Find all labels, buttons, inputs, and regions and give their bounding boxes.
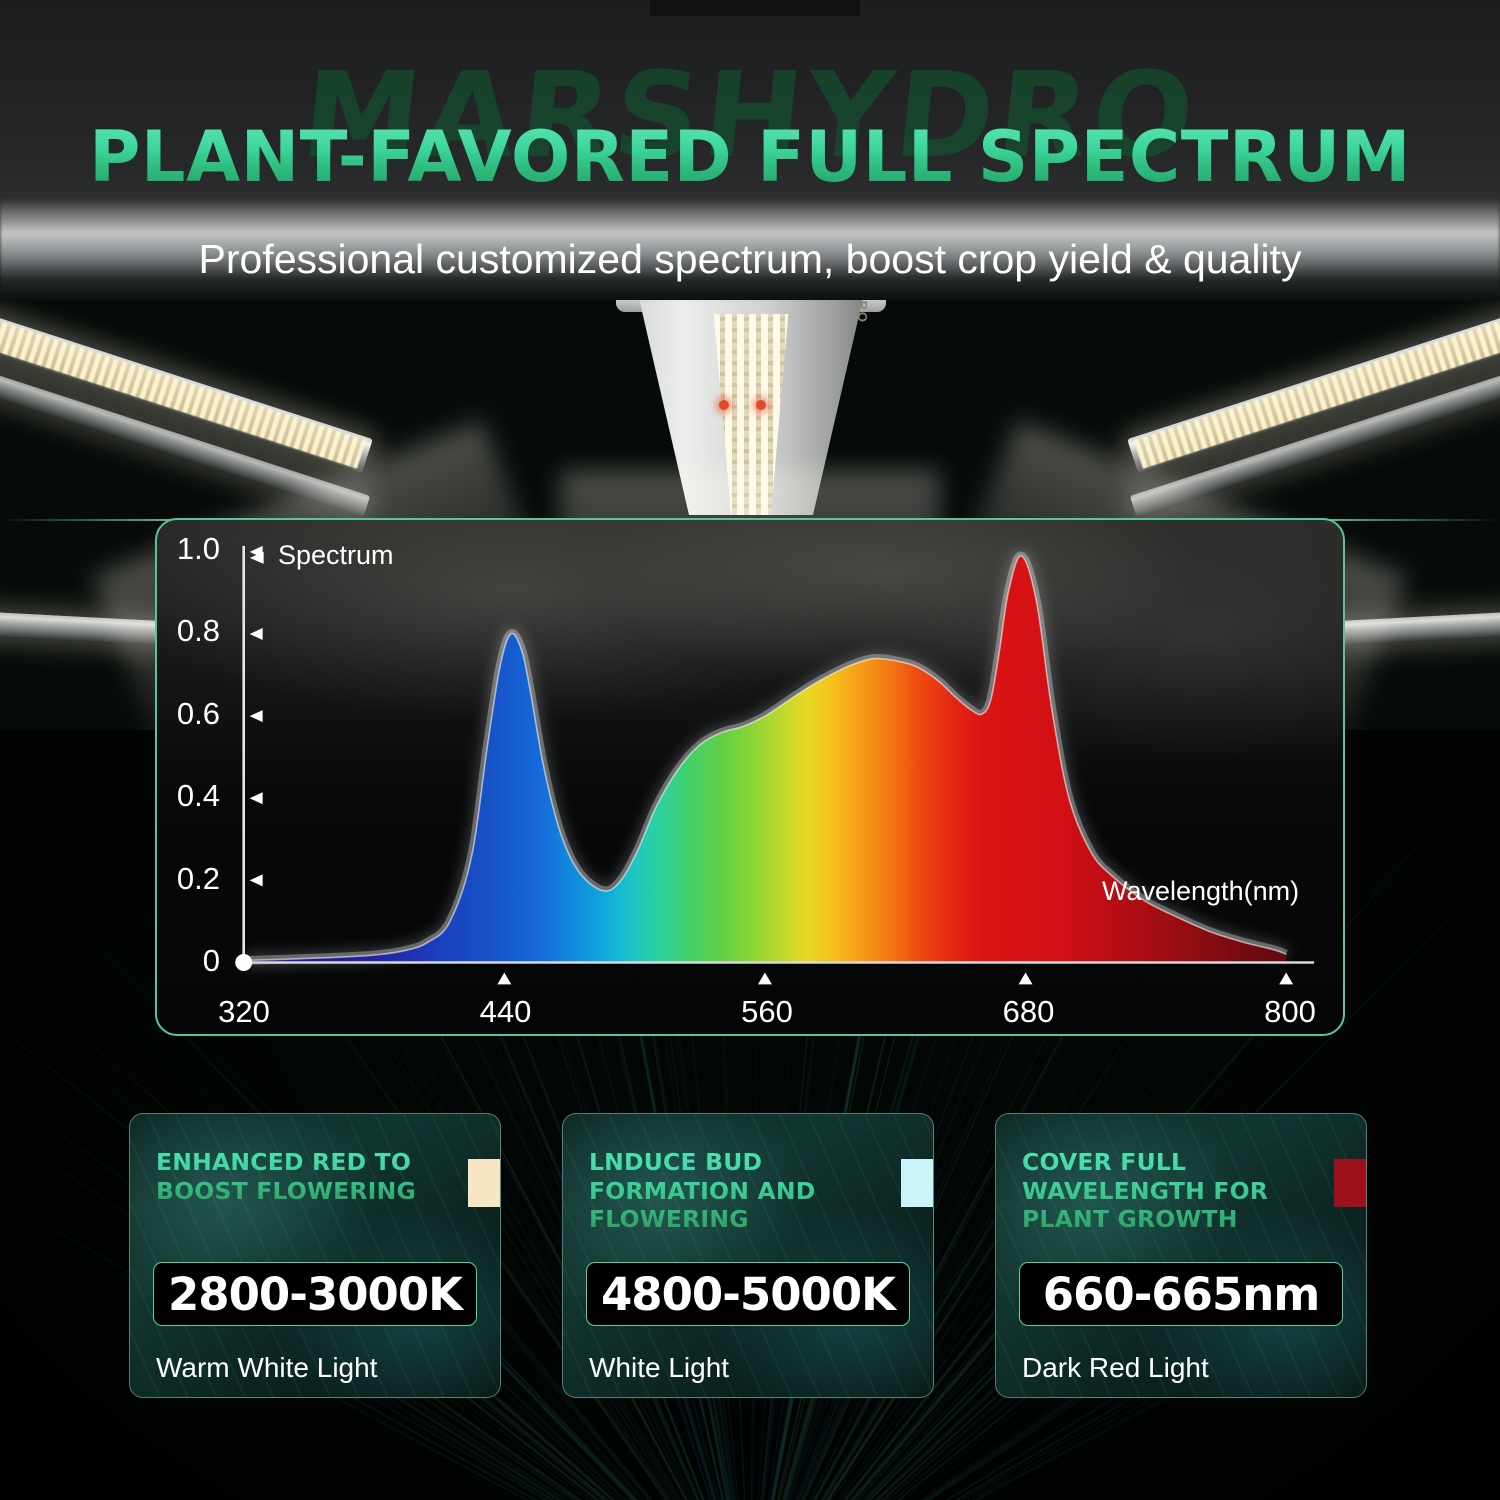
feature-card-title: ENHANCED RED TO BOOST FLOWERING bbox=[156, 1148, 426, 1205]
x-tick-label: 800 bbox=[1230, 994, 1345, 1030]
x-axis-title: Wavelength(nm) bbox=[1102, 876, 1299, 907]
dark-red-swatch bbox=[1334, 1159, 1367, 1207]
spectrum-chart bbox=[157, 520, 1343, 1036]
feature-card-value: 4800-5000K bbox=[601, 1268, 895, 1321]
page-subtitle: Professional customized spectrum, boost … bbox=[0, 236, 1500, 283]
cool-white-swatch bbox=[901, 1159, 934, 1207]
feature-card-dark-red[interactable]: COVER FULL WAVELENGTH FOR PLANT GROWTH 6… bbox=[995, 1113, 1367, 1398]
x-tick-label: 440 bbox=[446, 994, 566, 1030]
spectrum-chart-card: 0.20.40.60.81.00320440560680800SpectrumW… bbox=[155, 518, 1345, 1036]
feature-card-value-box: 2800-3000K bbox=[153, 1262, 477, 1326]
feature-card-white[interactable]: LNDUCE BUD FORMATION AND FLOWERING 4800-… bbox=[562, 1113, 934, 1398]
y-tick-label: 0.2 bbox=[155, 861, 220, 897]
y-tick-label: 1.0 bbox=[155, 531, 220, 567]
feature-card-value-box: 4800-5000K bbox=[586, 1262, 910, 1326]
feature-card-value: 2800-3000K bbox=[168, 1268, 462, 1321]
feature-card-subtitle: Warm White Light bbox=[156, 1352, 377, 1384]
feature-card-row: ENHANCED RED TO BOOST FLOWERING 2800-300… bbox=[0, 1113, 1500, 1398]
y-tick-label: 0.6 bbox=[155, 696, 220, 732]
y-axis-title: Spectrum bbox=[278, 540, 394, 571]
feature-card-subtitle: Dark Red Light bbox=[1022, 1352, 1209, 1384]
x-tick-label: 320 bbox=[184, 994, 304, 1030]
feature-card-value: 660-665nm bbox=[1043, 1268, 1319, 1321]
feature-card-title: COVER FULL WAVELENGTH FOR PLANT GROWTH bbox=[1022, 1148, 1292, 1234]
x-tick-label: 560 bbox=[707, 994, 827, 1030]
fixture-brand-label: MARSHYDRO bbox=[855, 300, 870, 324]
feature-card-value-box: 660-665nm bbox=[1019, 1262, 1343, 1326]
y-tick-label: 0.4 bbox=[155, 778, 220, 814]
feature-card-warm-white[interactable]: ENHANCED RED TO BOOST FLOWERING 2800-300… bbox=[129, 1113, 501, 1398]
feature-card-title: LNDUCE BUD FORMATION AND FLOWERING bbox=[589, 1148, 859, 1234]
y-tick-label-zero: 0 bbox=[155, 943, 220, 979]
y-tick-label: 0.8 bbox=[155, 613, 220, 649]
feature-card-subtitle: White Light bbox=[589, 1352, 729, 1384]
x-tick-label: 680 bbox=[969, 994, 1089, 1030]
header-band-notch bbox=[650, 0, 860, 16]
warm-white-swatch bbox=[468, 1159, 501, 1207]
page-title: PLANT-FAVORED FULL SPECTRUM bbox=[0, 116, 1500, 198]
